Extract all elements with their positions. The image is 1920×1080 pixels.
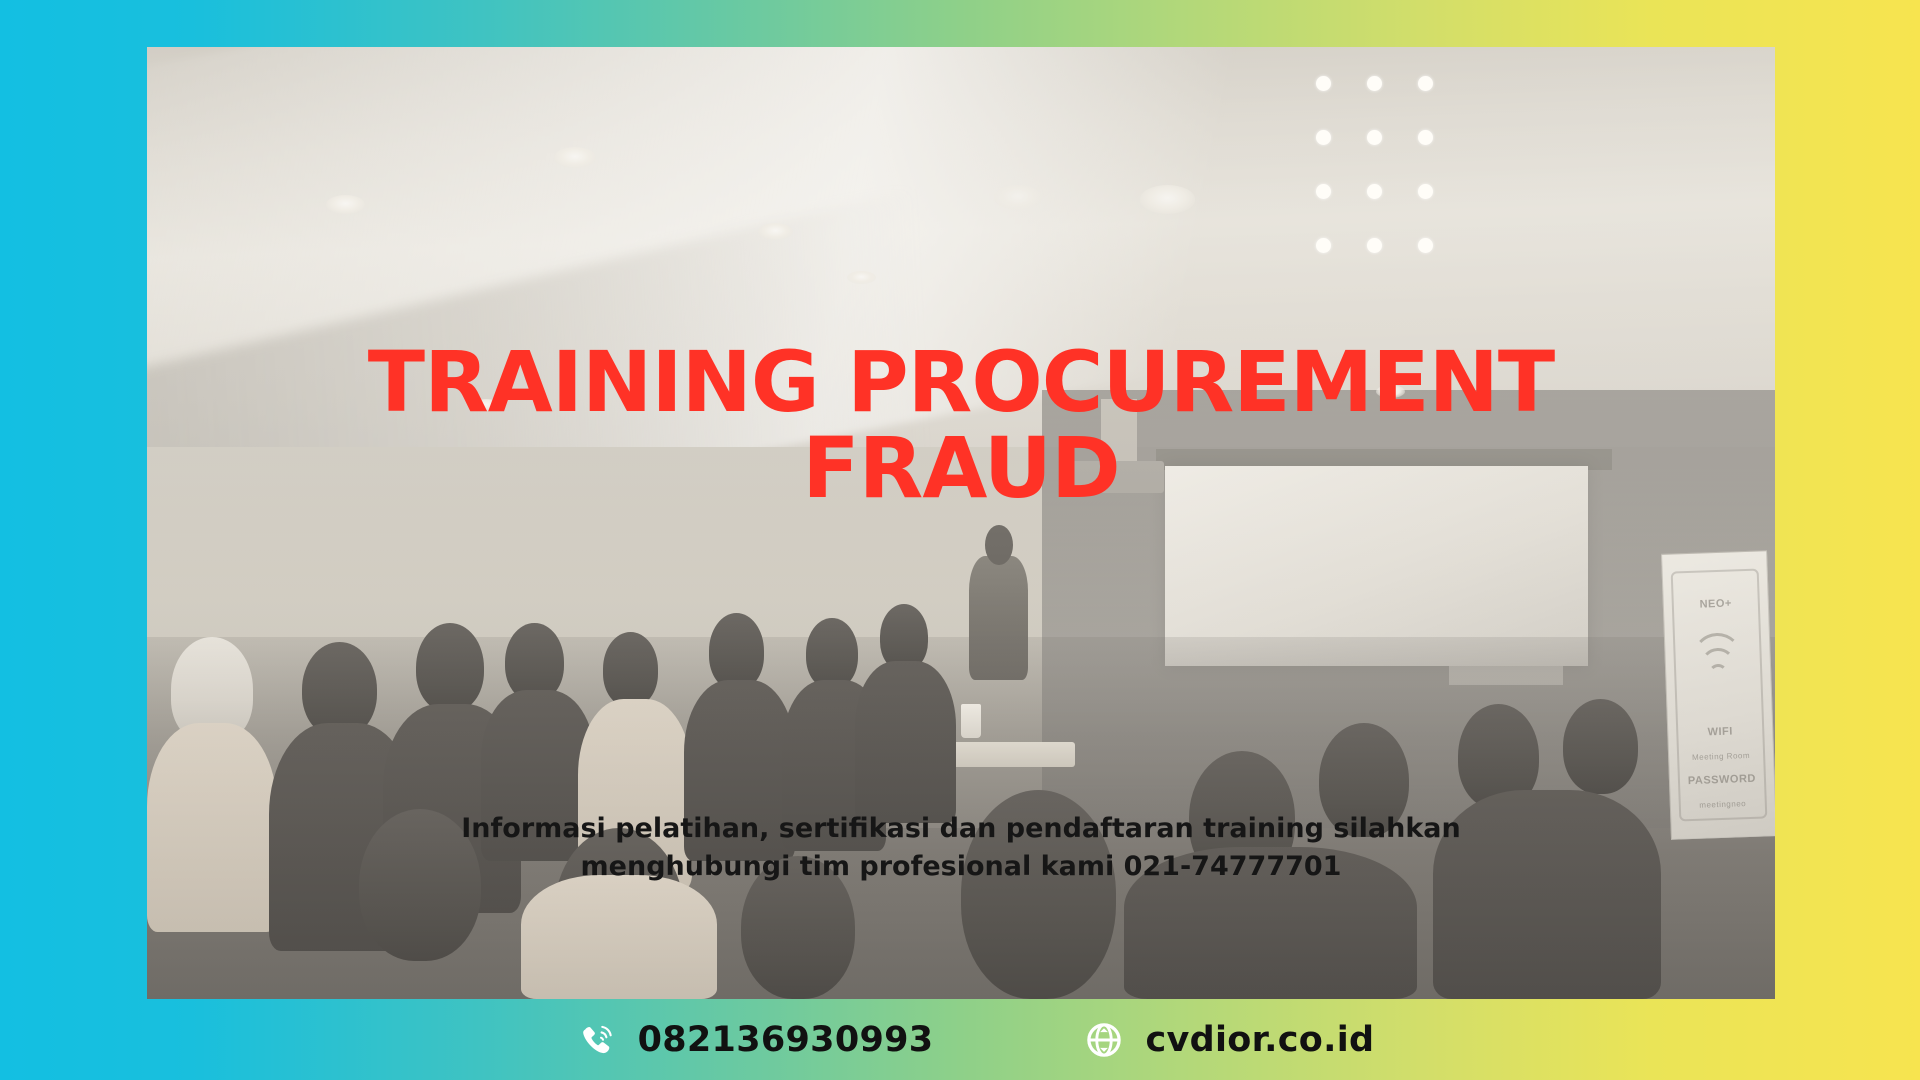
contact-footer: 082136930993 cvdior.co.id [0, 1000, 1920, 1080]
grid-dot [1418, 238, 1433, 253]
website-contact[interactable]: cvdior.co.id [1083, 1019, 1374, 1061]
downlight [326, 195, 365, 214]
downlight [1140, 185, 1195, 214]
attendee-head-front [1563, 699, 1638, 794]
attendee-head [416, 623, 484, 712]
page-title: TRAINING PROCUREMENT FRAUD [147, 340, 1775, 511]
phone-number: 082136930993 [638, 1020, 934, 1060]
promo-banner: NEO+ WIFI Meeting Room PASSWORD meetingn… [0, 0, 1920, 1080]
wifi-poster: NEO+ WIFI Meeting Room PASSWORD meetingn… [1661, 550, 1775, 839]
attendee-head [709, 613, 764, 689]
attendee-head [603, 632, 658, 706]
grid-dot [1418, 130, 1433, 145]
dot-grid-decoration [1316, 76, 1433, 253]
headline-line-1: TRAINING PROCUREMENT [147, 340, 1775, 426]
subtitle-line-1: Informasi pelatihan, sertifikasi dan pen… [147, 810, 1775, 848]
subtitle-line-2: menghubungi tim profesional kami 021-747… [147, 848, 1775, 886]
grid-dot [1316, 76, 1331, 91]
phone-icon [576, 1019, 618, 1061]
globe-icon [1083, 1019, 1125, 1061]
grid-dot [1316, 130, 1331, 145]
presenter-head [985, 525, 1013, 565]
website-url: cvdior.co.id [1145, 1020, 1374, 1060]
attendee-torso-front [521, 875, 716, 999]
grid-dot [1367, 238, 1382, 253]
attendee-head [806, 618, 858, 688]
downlight [847, 271, 876, 284]
headline-line-2: FRAUD [147, 426, 1775, 512]
grid-dot [1316, 238, 1331, 253]
cup [961, 704, 981, 738]
downlight [554, 147, 596, 168]
grid-dot [1367, 184, 1382, 199]
grid-dot [1316, 184, 1331, 199]
grid-dot [1367, 130, 1382, 145]
grid-dot [1367, 76, 1382, 91]
wifi-icon [1688, 626, 1746, 684]
downlight [994, 185, 1043, 210]
attendee-torso [855, 661, 956, 823]
grid-dot [1418, 184, 1433, 199]
phone-contact[interactable]: 082136930993 [576, 1019, 934, 1061]
grid-dot [1418, 76, 1433, 91]
subtitle: Informasi pelatihan, sertifikasi dan pen… [147, 810, 1775, 887]
